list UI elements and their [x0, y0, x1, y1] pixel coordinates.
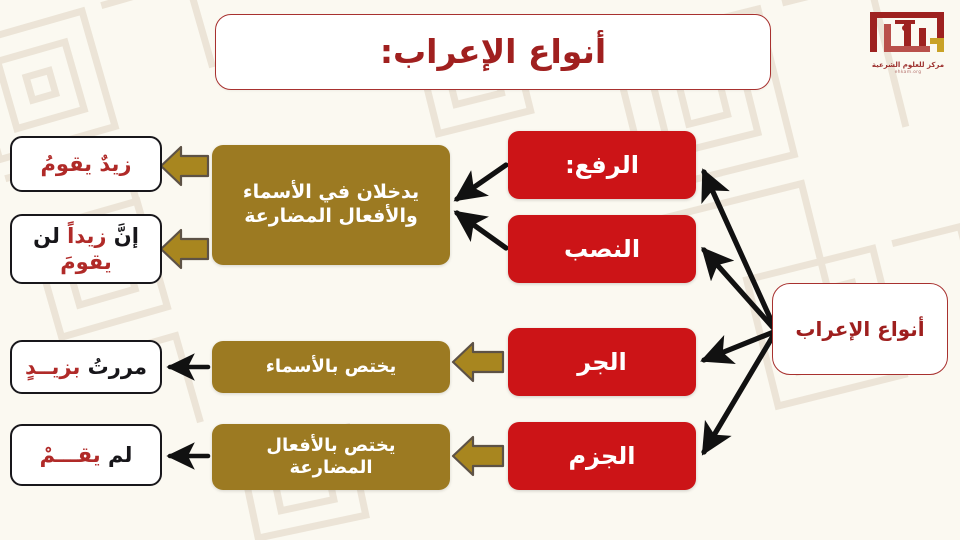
rule-line-2: المضارعة — [289, 457, 372, 478]
example-box-jazm[interactable]: لم يقـــمْ — [10, 424, 162, 486]
rule-line-1: يدخلان في الأسماء — [243, 181, 419, 203]
rule-box-asma-wa-afal[interactable]: يدخلان في الأسماء والأفعال المضارعة — [212, 145, 450, 265]
arrow-nasb-to-rule — [457, 213, 506, 248]
gold-arrow-rule-to-ex-nasb — [161, 230, 208, 268]
gold-arrow-rule-to-ex-raf — [161, 147, 208, 185]
example-line: إنَّ زيداً لن — [33, 223, 139, 249]
example-word: لن — [33, 224, 60, 248]
rule-line-1: يختص بالأسماء — [266, 356, 397, 377]
example-box-nasb[interactable]: إنَّ زيداً لنيقومَ — [10, 214, 162, 284]
logo-subtitle: مركز للعلوم الشرعية — [872, 61, 944, 69]
slide-canvas: مركز للعلوم الشرعية ehkam.org أنواع الإع… — [0, 0, 960, 540]
gold-arrow-jarr-to-rule — [453, 343, 503, 381]
example-box-raf[interactable]: زيدٌ يقومُ — [10, 136, 162, 192]
arrow-root-to-jazm — [704, 331, 776, 452]
arrow-root-to-raf — [704, 172, 776, 331]
category-box-nasb[interactable]: النصب — [508, 215, 696, 283]
example-word: لم — [101, 443, 133, 467]
rule-line-1: يختص بالأفعال — [266, 435, 395, 456]
example-word: بزيــدٍ — [25, 355, 80, 379]
arrow-root-to-nasb — [704, 250, 776, 331]
rule-line-2: والأفعال المضارعة — [244, 205, 418, 227]
example-line: لم يقـــمْ — [40, 442, 133, 468]
brand-logo: مركز للعلوم الشرعية ehkam.org — [862, 8, 954, 88]
arrow-raf-to-rule — [457, 165, 506, 199]
gold-arrow-jazm-to-rule — [453, 437, 503, 475]
logo-url: ehkam.org — [895, 70, 922, 75]
page-title: أنواع الإعراب: — [215, 14, 771, 90]
category-box-raf[interactable]: الرفع: — [508, 131, 696, 199]
example-word: زيدٌ يقومُ — [41, 152, 132, 176]
example-word: مررتُ — [80, 355, 147, 379]
example-word: يقـــمْ — [40, 443, 101, 467]
example-box-jarr[interactable]: مررتُ بزيــدٍ — [10, 340, 162, 394]
example-line: يقومَ — [33, 249, 139, 275]
logo-wordmark-icon — [864, 8, 952, 60]
example-word: يقومَ — [60, 250, 112, 274]
rule-box-yakhtass-bil-afal[interactable]: يختص بالأفعال المضارعة — [212, 424, 450, 490]
root-node-anwa-alirab[interactable]: أنواع الإعراب — [772, 283, 948, 375]
example-word: زيداً — [60, 224, 107, 248]
category-box-jazm[interactable]: الجزم — [508, 422, 696, 490]
arrow-root-to-jarr — [704, 331, 776, 360]
example-word: إنَّ — [107, 224, 139, 248]
example-line: زيدٌ يقومُ — [41, 151, 132, 177]
example-line: مررتُ بزيــدٍ — [25, 354, 147, 380]
rule-box-yakhtass-bil-asma[interactable]: يختص بالأسماء — [212, 341, 450, 393]
category-box-jarr[interactable]: الجر — [508, 328, 696, 396]
